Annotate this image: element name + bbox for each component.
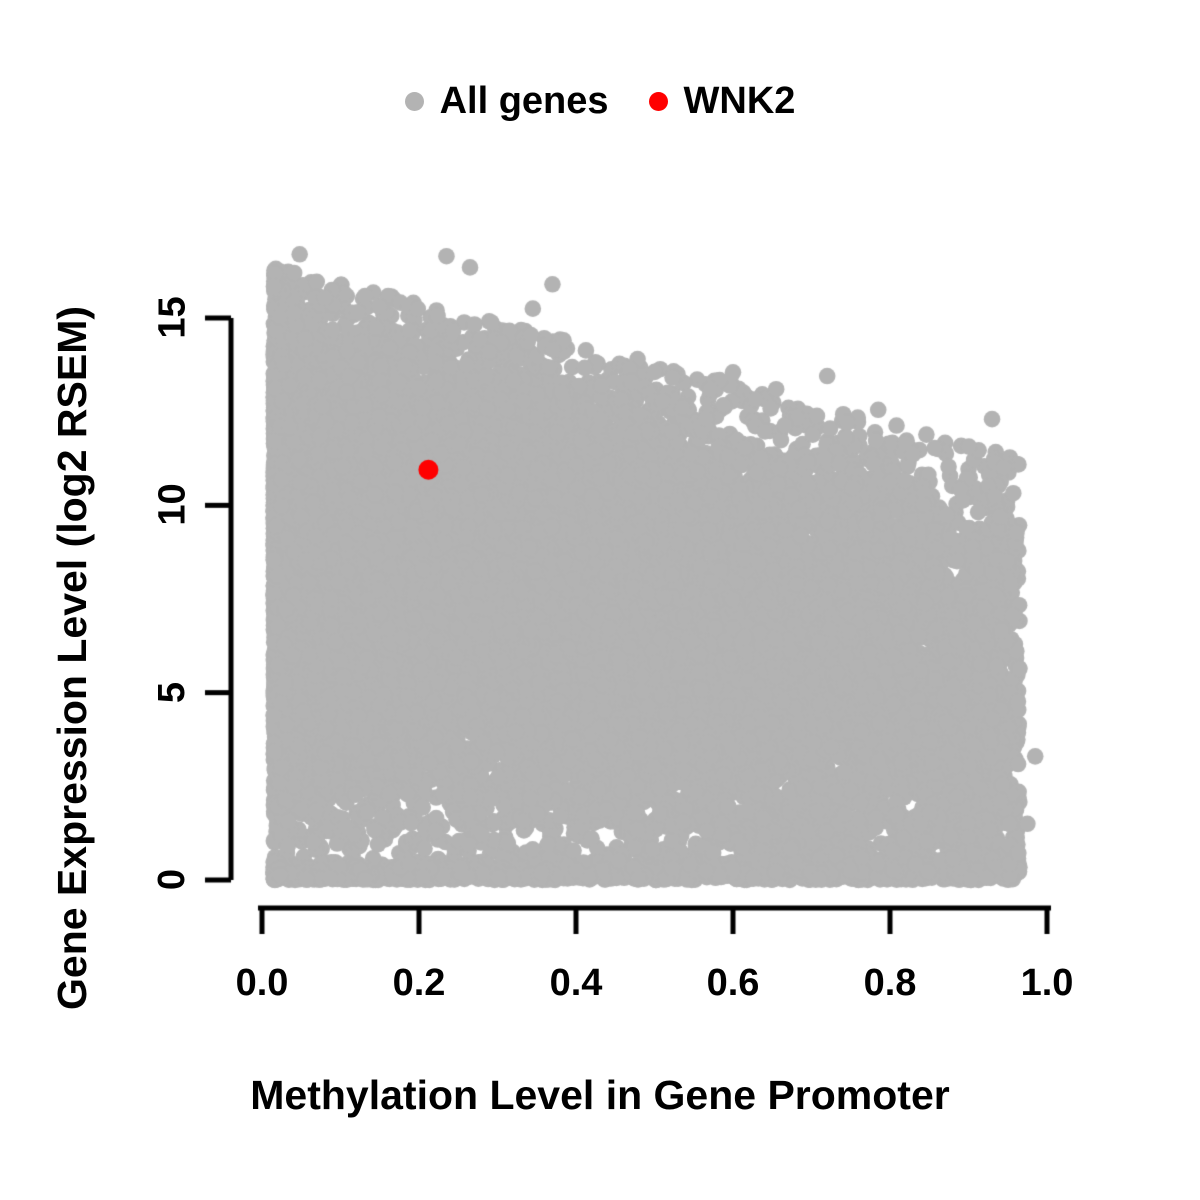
scatter-plot-canvas <box>0 0 1200 1200</box>
x-tick-label: 0.0 <box>236 962 289 1005</box>
x-tick-label: 1.0 <box>1021 962 1074 1005</box>
x-tick-label: 0.6 <box>707 962 760 1005</box>
x-tick-label: 0.8 <box>864 962 917 1005</box>
legend-entry-all-genes[interactable]: All genes <box>405 82 609 120</box>
legend-label-wnk2: WNK2 <box>684 82 796 120</box>
legend-marker-circle-icon <box>649 92 668 111</box>
x-tick-label: 0.4 <box>550 962 603 1005</box>
chart-legend: All genes WNK2 <box>0 82 1200 120</box>
y-tick-label: 0 <box>150 858 196 901</box>
y-tick-label: 10 <box>150 483 196 526</box>
y-tick-label: 15 <box>150 296 196 339</box>
legend-entry-wnk2[interactable]: WNK2 <box>649 82 796 120</box>
legend-label-all-genes: All genes <box>440 82 609 120</box>
x-tick-label: 0.2 <box>393 962 446 1005</box>
legend-marker-circle-icon <box>405 92 424 111</box>
x-axis-title: Methylation Level in Gene Promoter <box>0 1072 1200 1119</box>
y-tick-label: 5 <box>150 671 196 714</box>
scatter-plot-figure: All genes WNK2 0.00.20.40.60.81.0 051015… <box>0 0 1200 1200</box>
